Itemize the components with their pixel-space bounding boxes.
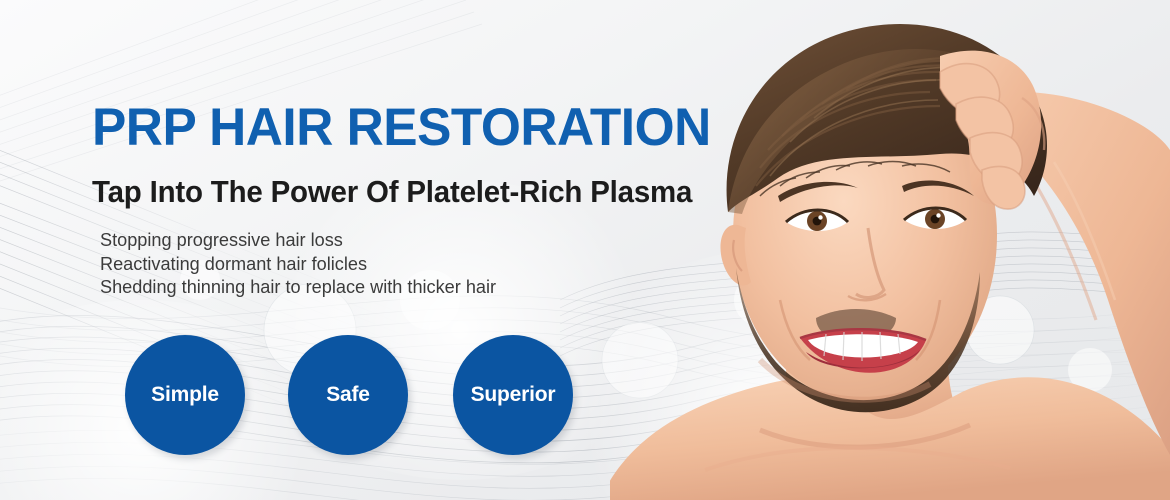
page-title: PRP HAIR RESTORATION xyxy=(92,101,711,154)
page-subtitle: Tap Into The Power Of Platelet-Rich Plas… xyxy=(92,176,692,207)
badge-superior[interactable]: Superior xyxy=(453,335,573,455)
list-item: Stopping progressive hair loss xyxy=(100,228,496,252)
list-item: Reactivating dormant hair folicles xyxy=(100,252,496,276)
prp-hair-restoration-banner: PRP HAIR RESTORATION Tap Into The Power … xyxy=(0,0,1170,500)
list-item: Shedding thinning hair to replace with t… xyxy=(100,275,496,299)
benefits-list: Stopping progressive hair loss Reactivat… xyxy=(100,228,496,299)
badge-simple[interactable]: Simple xyxy=(125,335,245,455)
hero-photo-man-touching-hair xyxy=(610,0,1170,500)
badge-safe[interactable]: Safe xyxy=(288,335,408,455)
man-illustration xyxy=(610,0,1170,500)
